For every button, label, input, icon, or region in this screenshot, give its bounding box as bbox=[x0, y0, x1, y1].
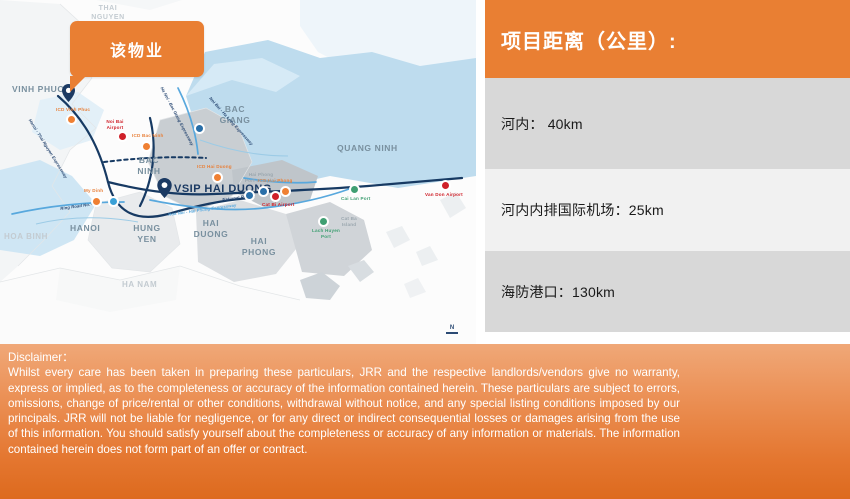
disclaimer-body: Whilst every care has been taken in prep… bbox=[8, 365, 680, 457]
disclaimer-band: Disclaimer： Whilst every care has been t… bbox=[0, 344, 850, 499]
map-marker-noi-bai-airport[interactable] bbox=[117, 131, 128, 142]
callout-tail bbox=[70, 76, 86, 92]
callout-label: 该物业 bbox=[110, 37, 164, 61]
distance-row-text: 河内： 40km bbox=[501, 114, 583, 134]
compass-bar bbox=[446, 332, 458, 334]
distance-row-text: 河内内排国际机场：25km bbox=[501, 200, 664, 220]
distance-row-text: 海防港口：130km bbox=[501, 282, 615, 302]
map-marker-cai-lan-port[interactable] bbox=[349, 184, 360, 195]
distance-row-hai-phong-port: 海防港口：130km bbox=[485, 251, 850, 332]
map-panel[interactable]: VINH PHUC BAC GIANG BAC NINH QUANG NINH … bbox=[0, 0, 476, 344]
map-marker-icd-bac-ninh[interactable] bbox=[141, 141, 152, 152]
map-marker-hai-phong-port[interactable] bbox=[258, 186, 269, 197]
distance-row-noi-bai-airport: 河内内排国际机场：25km bbox=[485, 169, 850, 251]
callout-this-property[interactable]: 该物业 bbox=[70, 21, 204, 77]
map-marker-icd-hai-phong[interactable] bbox=[280, 186, 291, 197]
map-marker-hanoi-center[interactable] bbox=[108, 196, 119, 207]
distances-title: 项目距离（公里）: bbox=[501, 25, 677, 54]
map-pin-vsip-hai-duong[interactable] bbox=[157, 178, 172, 198]
map-marker-lach-huyen-port[interactable] bbox=[318, 216, 329, 227]
map-marker-icd-vinh-phuc[interactable] bbox=[66, 114, 77, 125]
map-marker-icd-hai-duong[interactable] bbox=[212, 172, 223, 183]
map-marker-hai-phong-port-2[interactable] bbox=[244, 190, 255, 201]
map-marker-bac-giang-node[interactable] bbox=[194, 123, 205, 134]
map-marker-cat-bi-airport[interactable] bbox=[270, 191, 281, 202]
distances-panel: 项目距离（公里）: 河内： 40km 河内内排国际机场：25km 海防港口：13… bbox=[485, 0, 850, 338]
map-marker-van-don-airport[interactable] bbox=[440, 180, 451, 191]
map-marker-my-dinh[interactable] bbox=[91, 196, 102, 207]
disclaimer-text-block: Disclaimer： Whilst every care has been t… bbox=[8, 350, 680, 457]
map-site-label-vsip: VSIP HAI DUONG bbox=[174, 183, 272, 195]
compass: N bbox=[446, 325, 458, 334]
disclaimer-title: Disclaimer： bbox=[8, 350, 680, 365]
distance-row-hanoi: 河内： 40km bbox=[485, 78, 850, 169]
compass-north-label: N bbox=[446, 325, 458, 331]
distances-header: 项目距离（公里）: bbox=[485, 0, 850, 78]
slide-root: VINH PHUC BAC GIANG BAC NINH QUANG NINH … bbox=[0, 0, 850, 499]
